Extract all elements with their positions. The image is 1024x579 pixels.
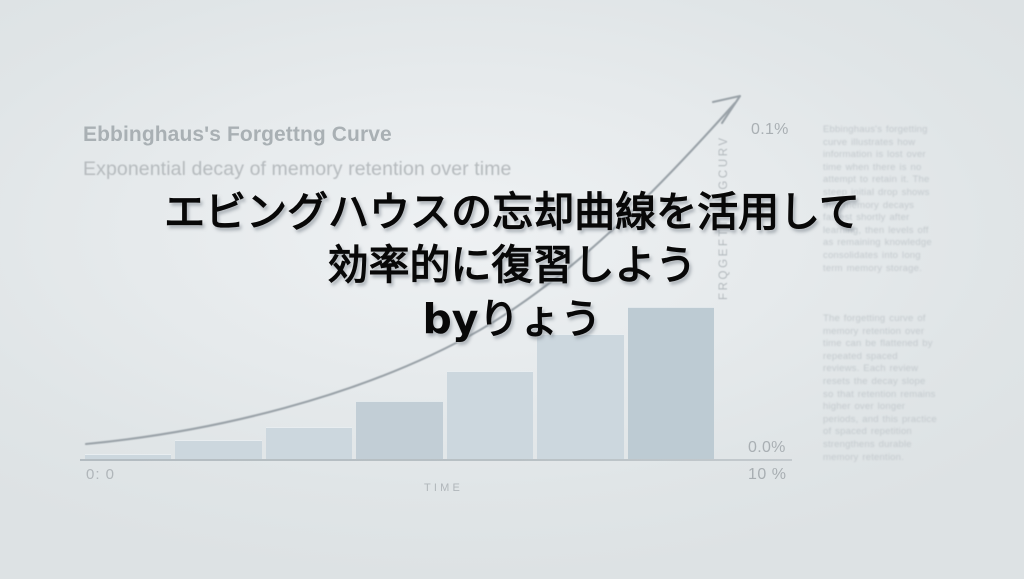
x-axis-baseline xyxy=(80,459,792,461)
headline-line-1: エビングハウスの忘却曲線を活用して xyxy=(0,186,1024,239)
japanese-headline-overlay: エビングハウスの忘却曲線を活用して 効率的に復習しよう byりょう xyxy=(0,186,1024,346)
curve-arrowhead xyxy=(713,96,740,123)
slide-screenshot: Ebbinghaus's Forgettng Curve Exponential… xyxy=(0,0,1024,579)
x-axis-title: TIME xyxy=(424,482,463,494)
x-axis-origin-label: 0: 0 xyxy=(86,466,115,483)
y-axis-min-label: 0.0% xyxy=(748,439,786,457)
headline-line-2: 効率的に復習しよう xyxy=(0,239,1024,292)
x-axis-max-label: 10 % xyxy=(748,466,786,484)
y-axis-max-label: 0.1% xyxy=(751,121,789,139)
headline-line-3: byりょう xyxy=(0,293,1024,346)
